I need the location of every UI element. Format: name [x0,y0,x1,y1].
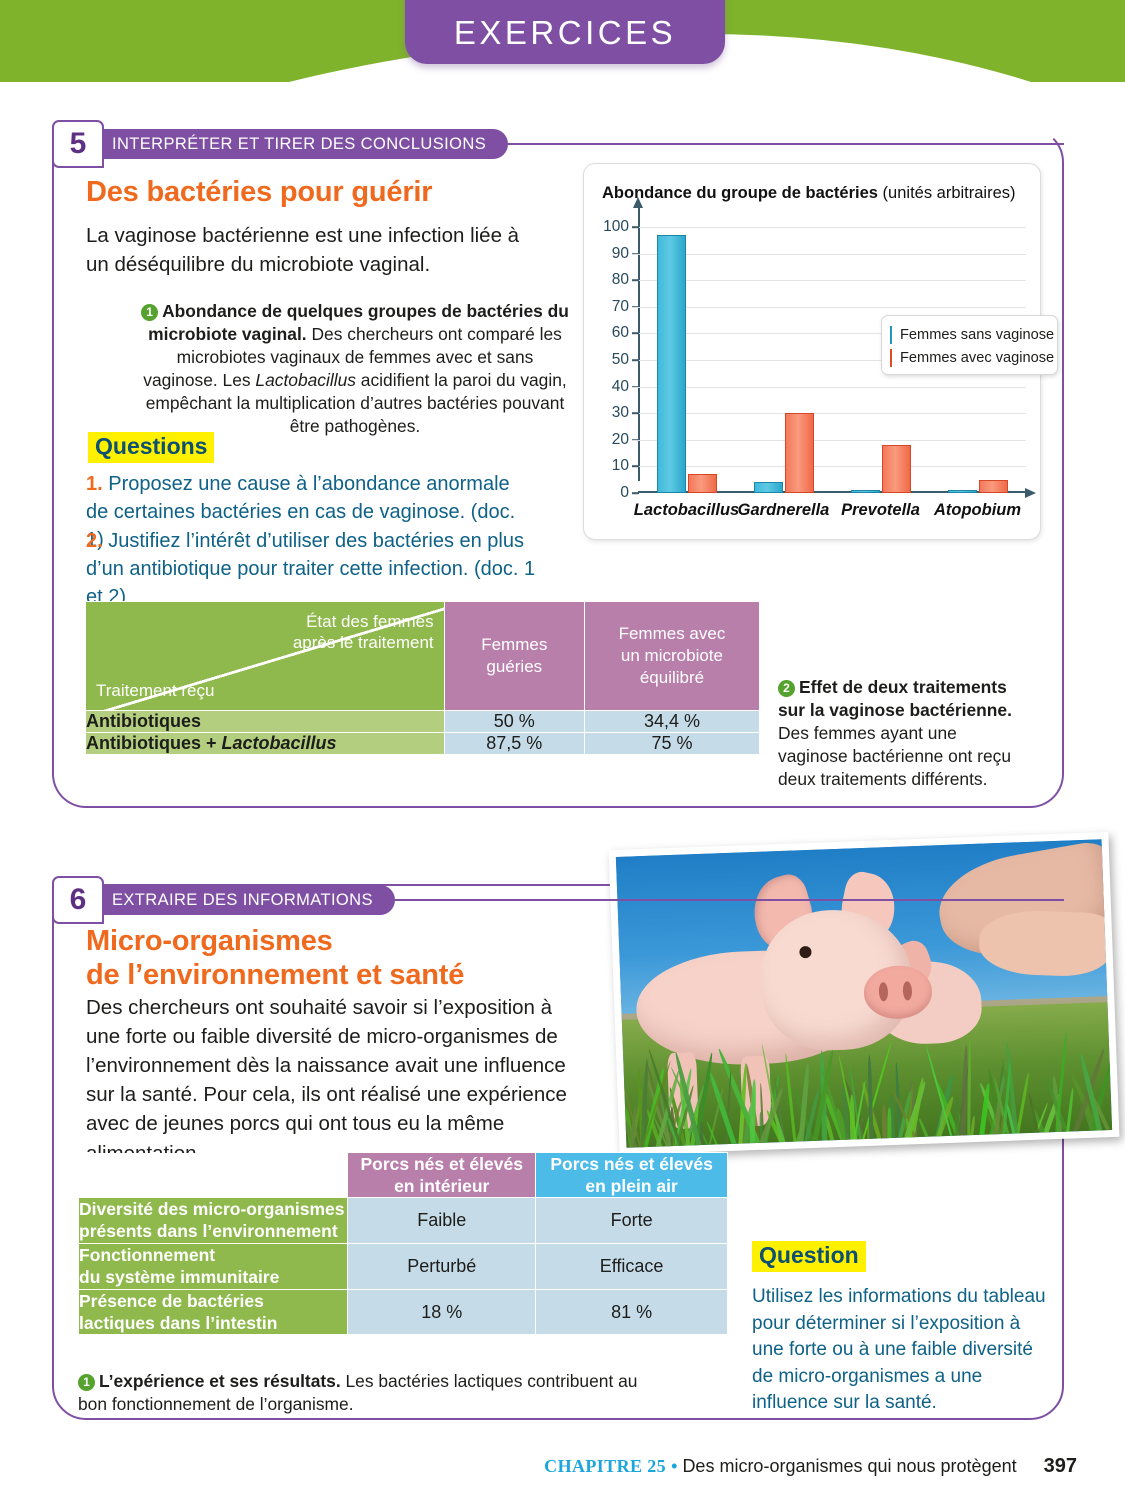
footer-chapter: CHAPITRE 25 [544,1456,666,1476]
t2h1-l1: Porcs nés et élevés [348,1153,535,1175]
page-footer: CHAPITRE 25 • Des micro-organismes qui n… [0,1455,1125,1478]
bar-gardnerella-sans [754,482,783,493]
y-tick-label-90: 90 [612,245,629,263]
doc1b-caption-bold: L’expérience et ses résultats. [99,1371,341,1391]
table2-row2-label: Fonctionnementdu système immunitaire [79,1243,348,1289]
exercise-6-tag-label: EXTRAIRE DES INFORMATIONS [112,891,373,910]
pig-photo-frame [609,832,1120,1155]
table2-header-indoor: Porcs nés et élevésen intérieur [348,1153,536,1198]
exercise-5-tag: INTERPRÉTER ET TIRER DES CONCLUSIONS [96,129,508,159]
t2r3-l2: lactiques dans l’intestin [79,1312,347,1334]
table1-row2-label-italic: Lactobacillus [222,733,337,753]
t2r1-l2: présents dans l’environnement [79,1220,347,1242]
y-tick-label-40: 40 [612,378,629,396]
photo-hand-second [978,909,1111,977]
exercise-6-intro: Des chercheurs ont souhaité savoir si l’… [86,993,578,1168]
exercise-6-title-line2: de l’environnement et santé [86,959,586,993]
question-6-text: Utilisez les informations du tableau pou… [752,1284,1052,1417]
doc2-caption-rest: Des femmes ayant une vaginose bactérienn… [778,723,1011,789]
exercise-5-intro: La vaginose bactérienne est une infectio… [86,221,538,279]
t2h2-l2: en plein air [536,1175,727,1197]
y-tick-label-10: 10 [612,457,629,475]
t1h2-l3: équilibré [585,667,759,689]
t2h2-l1: Porcs nés et élevés [536,1153,727,1175]
y-tick-label-30: 30 [612,404,629,422]
questions-heading-5: Questions [88,432,214,463]
question-5-2: 2. Justifiez l’intérêt d’utiliser des ba… [86,527,551,611]
chart-plot-area: 0102030405060708090100 LactobacillusGard… [638,227,1026,493]
t1h1-l1: Femmes [445,634,584,656]
legend-label-2: Femmes avec vaginose [900,350,1054,366]
t1h2-l1: Femmes avec [585,623,759,645]
exercise-6-tag: EXTRAIRE DES INFORMATIONS [96,885,395,915]
question-5-2-text: Justifiez l’intérêt d’utiliser des bacté… [86,530,535,608]
bar-lactobacillus-avec [688,474,717,493]
t2h1-l2: en intérieur [348,1175,535,1197]
table2-row1-col2: Forte [536,1198,728,1244]
exercise-6-title-line1: Micro-organismes [86,925,586,959]
exercise-5-number-badge: 5 [52,120,104,168]
t1h1-l2: guéries [445,656,584,678]
exercices-tab: EXERCICES [405,0,725,64]
table2-header-outdoor: Porcs nés et élevésen plein air [536,1153,728,1198]
pig-experiment-table: Porcs nés et élevésen intérieur Porcs né… [78,1152,728,1335]
table2-row3-col1: 18 % [348,1289,536,1335]
exercise-5-doc1-caption: 1Abondance de quelques groupes de bactér… [140,300,570,438]
table1-header-col2: Femmes avecun microbioteéquilibré [584,602,759,711]
table-row: Diversité des micro-organismesprésents d… [79,1198,728,1244]
table2-row1-col1: Faible [348,1198,536,1244]
table1-row2-label: Antibiotiques + Lactobacillus [86,733,445,755]
chart-y-axis-arrow [633,197,643,208]
photo-nostril-left [879,982,889,1001]
table1-row2-col2: 75 % [584,733,759,755]
chart-title: Abondance du groupe de bactéries (unités… [602,184,1016,203]
table2-row2-col1: Perturbé [348,1243,536,1289]
legend-swatch-1 [890,326,892,344]
treatment-results-table: État des femmesaprès le traitement Trait… [85,601,760,755]
table-row-header: État des femmesaprès le traitement Trait… [86,602,760,711]
table-row: Présence de bactérieslactiques dans l’in… [79,1289,728,1335]
bar-prevotella-avec [882,445,911,493]
table1-row1-label: Antibiotiques [86,711,445,733]
y-tick-label-50: 50 [612,351,629,369]
exercise-6-number-badge: 6 [52,876,104,924]
footer-dot: • [671,1456,677,1476]
legend-item-1: Femmes sans vaginose [890,323,1049,346]
table-row-header: Porcs nés et élevésen intérieur Porcs né… [79,1153,728,1198]
y-tick-label-70: 70 [612,298,629,316]
grass-blade [955,1097,959,1136]
table2-row3-label: Présence de bactérieslactiques dans l’in… [79,1289,348,1335]
table1-header-col1: Femmesguéries [444,602,584,711]
chart-x-axis-arrow [1025,488,1036,498]
table1-row1-col1: 50 % [444,711,584,733]
legend-item-2: Femmes avec vaginose [890,346,1049,369]
table1-corner-cell: État des femmesaprès le traitement Trait… [86,602,445,711]
exercise-5-title: Des bactéries pour guérir [86,176,556,210]
table-row: Fonctionnementdu système immunitaire Per… [79,1243,728,1289]
chart-legend: Femmes sans vaginoseFemmes avec vaginose [881,315,1058,375]
bar-group-gardnerella: Gardnerella [735,227,832,493]
y-tick-label-100: 100 [603,218,629,236]
t2r2-l2: du système immunitaire [79,1266,347,1288]
table1-row1-col2: 34,4 % [584,711,759,733]
legend-label-1: Femmes sans vaginose [900,327,1054,343]
question-heading-6: Question [752,1241,866,1272]
bar-atopobium-sans [948,490,977,493]
doc-number-1-icon: 1 [141,304,158,321]
bar-group-lactobacillus: Lactobacillus [638,227,735,493]
table2-row3-col2: 81 % [536,1289,728,1335]
exercise-5-doc2-caption: 2Effet de deux traitements sur la vagino… [778,676,1028,791]
exercise-6-doc1-caption: 1L’expérience et ses résultats. Les bact… [78,1370,658,1416]
table-row: Antibiotiques 50 % 34,4 % [86,711,760,733]
table2-row2-col2: Efficace [536,1243,728,1289]
bar-atopobium-avec [979,480,1008,493]
footer-chapter-title: Des micro-organismes qui nous protègent [682,1456,1016,1476]
t2r3-l1: Présence de bactéries [79,1290,347,1312]
corner-line-1: État des femmes [293,611,434,632]
x-tick-label-atopobium: Atopobium [898,501,1058,520]
question-5-2-number: 2. [86,530,103,552]
table2-blank-corner [79,1153,348,1198]
photo-nostril-right [903,981,913,1000]
table1-row-axis-label: Traitement reçu [96,681,214,701]
exercise-5-number: 5 [70,127,87,161]
t2r1-l1: Diversité des micro-organismes [79,1198,347,1220]
exercices-tab-label: EXERCICES [454,14,676,52]
exercise-6-tag-rule [357,899,1064,901]
y-tick-label-60: 60 [612,324,629,342]
table-row: Antibiotiques + Lactobacillus 87,5 % 75 … [86,733,760,755]
grass-blade [887,1108,891,1139]
doc-number-1-icon-b: 1 [78,1374,95,1391]
y-tick-label-0: 0 [620,484,629,502]
exercise-5-tag-rule [440,143,1064,145]
table1-column-axis-label: État des femmesaprès le traitement [293,611,434,654]
t1h2-l2: un microbiote [585,645,759,667]
exercise-6-number: 6 [70,883,87,917]
chart-title-units: (unités arbitraires) [878,184,1016,202]
table1-row2-label-plain: Antibiotiques + [86,733,222,753]
doc1-caption-italic: Lactobacillus [255,370,356,390]
y-tick-label-20: 20 [612,431,629,449]
bar-prevotella-sans [851,490,880,493]
doc-number-2-icon: 2 [778,680,795,697]
exercise-5-tag-label: INTERPRÉTER ET TIRER DES CONCLUSIONS [112,135,486,154]
legend-swatch-2 [890,349,892,367]
t2r2-l1: Fonctionnement [79,1244,347,1266]
exercise-6-title: Micro-organismes de l’environnement et s… [86,925,586,992]
doc2-caption-bold: Effet de deux traitements sur la vaginos… [778,677,1012,720]
y-tick-label-80: 80 [612,271,629,289]
bar-gardnerella-avec [785,413,814,493]
corner-line-2: après le traitement [293,632,434,653]
page-number: 397 [1044,1455,1077,1477]
question-5-1-number: 1. [86,473,103,495]
pig-photo [616,839,1112,1148]
table1-row2-col1: 87,5 % [444,733,584,755]
bacteria-abundance-chart: Abondance du groupe de bactéries (unités… [583,163,1041,540]
bar-lactobacillus-sans [657,235,686,493]
table2-row1-label: Diversité des micro-organismesprésents d… [79,1198,348,1244]
